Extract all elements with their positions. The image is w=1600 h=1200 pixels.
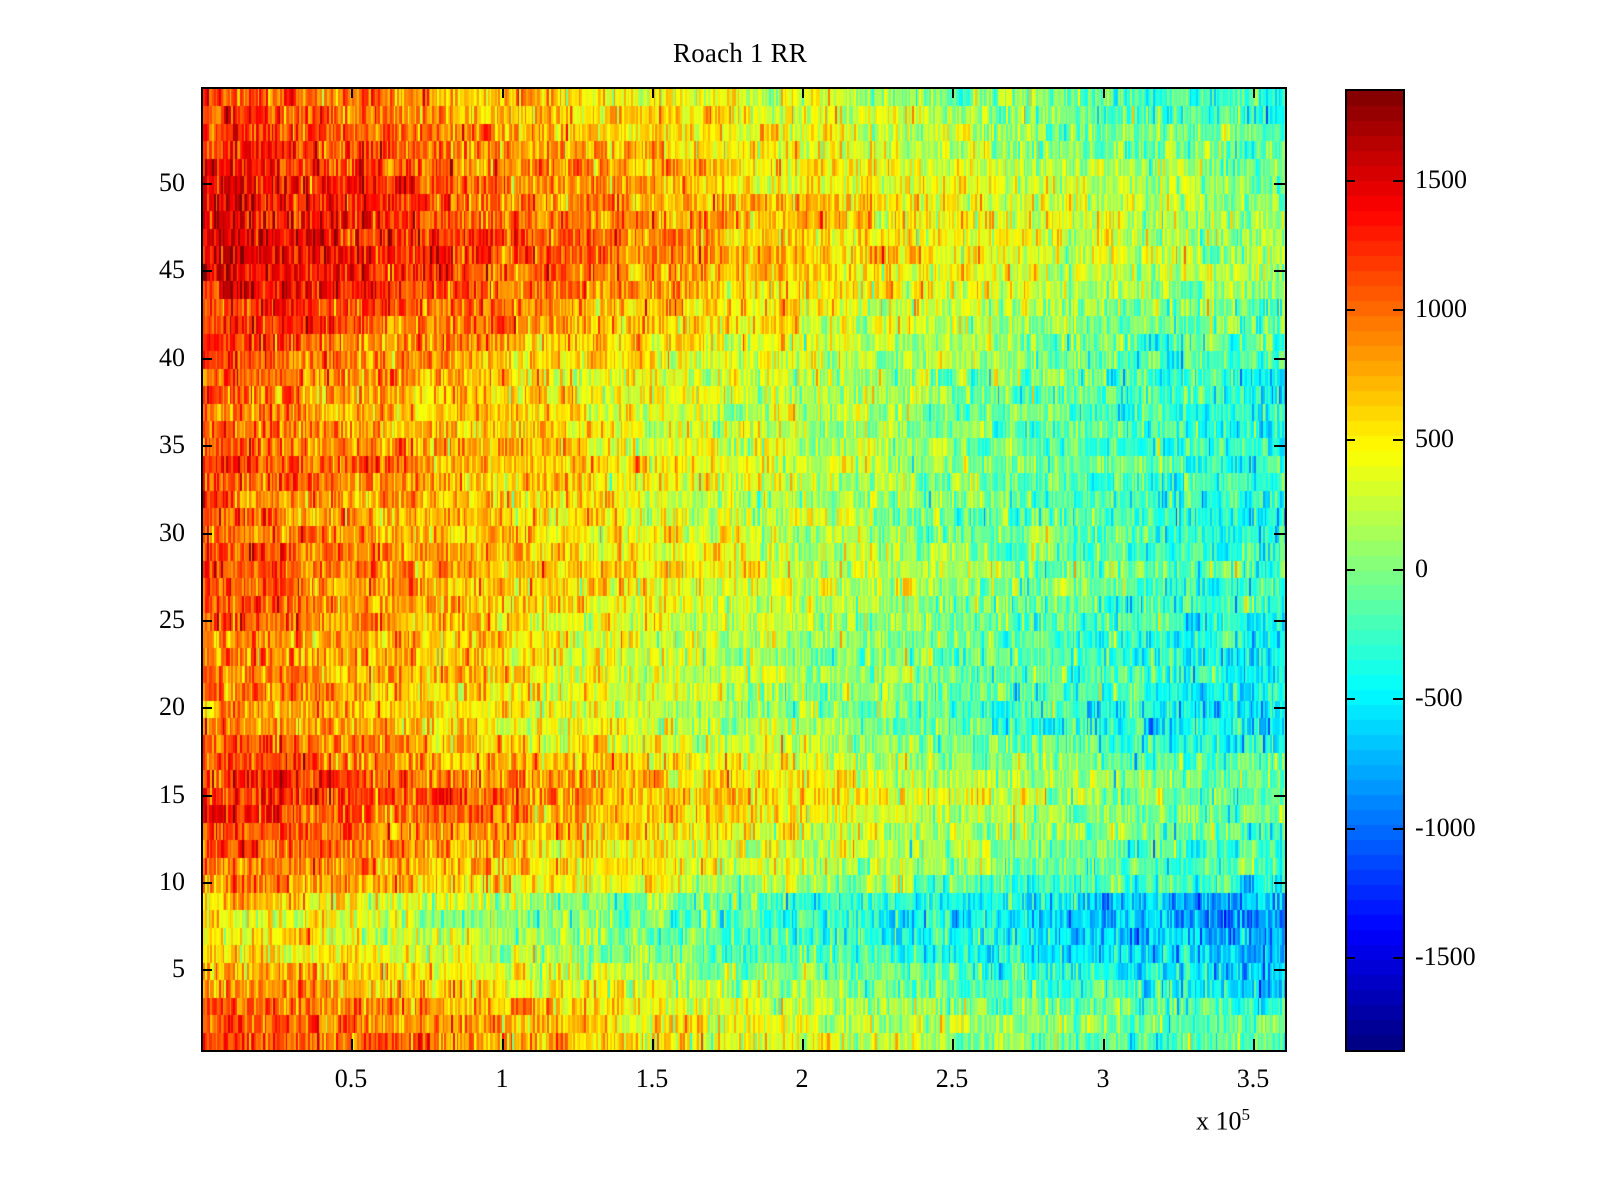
y-tick-mark (201, 882, 212, 884)
x-axis-exponent-power: 5 (1242, 1105, 1251, 1124)
y-tick-mark (201, 445, 212, 447)
colorbar-tick-mark-right (1393, 309, 1403, 311)
y-tick-mark-right (1274, 445, 1285, 447)
colorbar-tick-label: -1500 (1415, 944, 1476, 970)
y-tick-mark-right (1274, 882, 1285, 884)
y-tick-mark (201, 358, 212, 360)
x-tick-mark (952, 1039, 954, 1050)
x-tick-mark (351, 1039, 353, 1050)
y-tick-mark (201, 183, 212, 185)
y-tick-mark (201, 795, 212, 797)
heatmap-image (203, 89, 1285, 1050)
figure-root: Roach 1 RR 5101520253035404550 0.511.522… (0, 0, 1600, 1200)
colorbar-tick-label: 0 (1415, 556, 1428, 582)
colorbar-tick-label: 1500 (1415, 167, 1467, 193)
x-tick-mark-top (351, 87, 353, 98)
x-tick-label: 2 (747, 1066, 857, 1092)
x-tick-mark (1253, 1039, 1255, 1050)
y-tick-label: 40 (115, 345, 185, 371)
y-tick-mark (201, 620, 212, 622)
colorbar-tick-mark-left (1345, 828, 1355, 830)
y-tick-label: 45 (115, 257, 185, 283)
colorbar-tick-mark-right (1393, 439, 1403, 441)
colorbar-tick-mark-left (1345, 439, 1355, 441)
colorbar-tick-mark-left (1345, 180, 1355, 182)
x-tick-mark-top (1103, 87, 1105, 98)
y-tick-mark (201, 270, 212, 272)
y-tick-mark-right (1274, 358, 1285, 360)
y-tick-label: 35 (115, 432, 185, 458)
y-tick-label: 25 (115, 607, 185, 633)
page-title: Roach 1 RR (0, 38, 1480, 69)
colorbar-tick-label: 1000 (1415, 296, 1467, 322)
x-tick-label: 0.5 (296, 1066, 406, 1092)
x-tick-mark-top (802, 87, 804, 98)
y-tick-mark-right (1274, 969, 1285, 971)
y-tick-mark-right (1274, 270, 1285, 272)
y-tick-label: 50 (115, 170, 185, 196)
y-tick-mark-right (1274, 183, 1285, 185)
y-tick-mark-right (1274, 533, 1285, 535)
colorbar-tick-mark-left (1345, 309, 1355, 311)
colorbar-tick-mark-left (1345, 569, 1355, 571)
colorbar-tick-mark-right (1393, 698, 1403, 700)
x-tick-mark (802, 1039, 804, 1050)
x-tick-label: 2.5 (897, 1066, 1007, 1092)
colorbar-tick-mark-left (1345, 957, 1355, 959)
y-tick-label: 20 (115, 694, 185, 720)
colorbar-tick-mark-right (1393, 828, 1403, 830)
x-tick-label: 3 (1048, 1066, 1158, 1092)
x-tick-mark-top (952, 87, 954, 98)
colorbar-tick-label: -1000 (1415, 815, 1476, 841)
x-tick-label: 1 (447, 1066, 557, 1092)
x-tick-label: 3.5 (1198, 1066, 1308, 1092)
colorbar-tick-mark-left (1345, 698, 1355, 700)
y-tick-mark (201, 533, 212, 535)
colorbar-tick-mark-right (1393, 957, 1403, 959)
y-tick-mark (201, 707, 212, 709)
colorbar-tick-label: -500 (1415, 685, 1463, 711)
heatmap-axes (201, 87, 1287, 1052)
x-axis-exponent-label: x 105 (1196, 1105, 1250, 1137)
colorbar-tick-label: 500 (1415, 426, 1454, 452)
y-tick-mark-right (1274, 620, 1285, 622)
y-tick-mark-right (1274, 795, 1285, 797)
x-tick-label: 1.5 (597, 1066, 707, 1092)
y-tick-mark (201, 969, 212, 971)
x-tick-mark-top (652, 87, 654, 98)
colorbar-tick-mark-right (1393, 569, 1403, 571)
y-tick-label: 30 (115, 520, 185, 546)
x-tick-mark-top (1253, 87, 1255, 98)
x-tick-mark-top (502, 87, 504, 98)
x-tick-mark (652, 1039, 654, 1050)
y-tick-mark-right (1274, 707, 1285, 709)
colorbar-tick-mark-right (1393, 180, 1403, 182)
x-axis-exponent-mantissa: x 10 (1196, 1107, 1242, 1136)
x-tick-mark (502, 1039, 504, 1050)
y-tick-label: 15 (115, 782, 185, 808)
y-tick-label: 5 (115, 956, 185, 982)
x-tick-mark (1103, 1039, 1105, 1050)
y-tick-label: 10 (115, 869, 185, 895)
